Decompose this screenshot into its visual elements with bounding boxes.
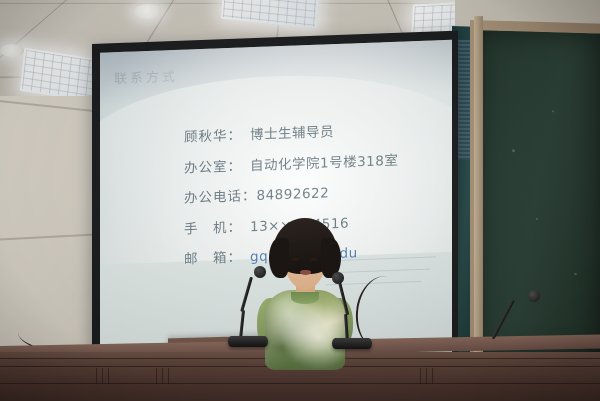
slide-value-office: 自动化学院1号楼318室 [250, 154, 398, 173]
chalk-mark [536, 218, 538, 220]
podium-slat [420, 368, 421, 384]
microphone-head-icon [528, 290, 540, 302]
chalk-mark [512, 149, 515, 152]
chalkboard [470, 20, 600, 374]
slide-label-mobile: 手 机： [184, 221, 250, 237]
slide-label-name: 顾秋华： [184, 129, 250, 145]
podium-slat [102, 368, 103, 384]
ceiling-downlight-2 [0, 44, 24, 57]
slide-value-role: 博士生辅导员 [250, 126, 334, 143]
hair-left [269, 238, 289, 278]
chalk-mark [552, 110, 554, 112]
ceiling-downlight-1 [134, 4, 162, 19]
microphone-head-icon [254, 266, 266, 278]
podium-slat [108, 368, 109, 384]
slide-line-office: 办公室： 自动化学院1号楼318室 [184, 153, 444, 176]
chalkboard-surface [478, 30, 600, 355]
podium-slat [168, 368, 169, 384]
chalkboard-divider-post [474, 16, 483, 372]
microphone-base [332, 338, 372, 349]
slide-line-phone: 办公电话： 84892622 [184, 183, 444, 206]
podium-slat [162, 368, 163, 384]
eye-left [292, 258, 299, 261]
lecture-hall-photo: 联系方式 顾秋华： 博士生辅导员 办公室： 自动化学院1号楼318室 办公电话：… [0, 0, 600, 401]
chalk-mark [574, 273, 577, 275]
podium-edge-line [0, 383, 600, 384]
eye-right [310, 258, 317, 261]
slide-label-office: 办公室： [184, 160, 250, 176]
podium-slat [156, 368, 157, 384]
mouth [300, 270, 311, 275]
podium-slat [432, 368, 433, 384]
slide-value-phone: 84892622 [257, 187, 330, 203]
podium-slat [96, 368, 97, 384]
slide-label-email: 邮 箱： [184, 251, 250, 267]
microphone-base [228, 336, 268, 347]
slide-label-phone: 办公电话： [184, 190, 257, 206]
garment-collar [291, 292, 319, 304]
podium-slat [426, 368, 427, 384]
